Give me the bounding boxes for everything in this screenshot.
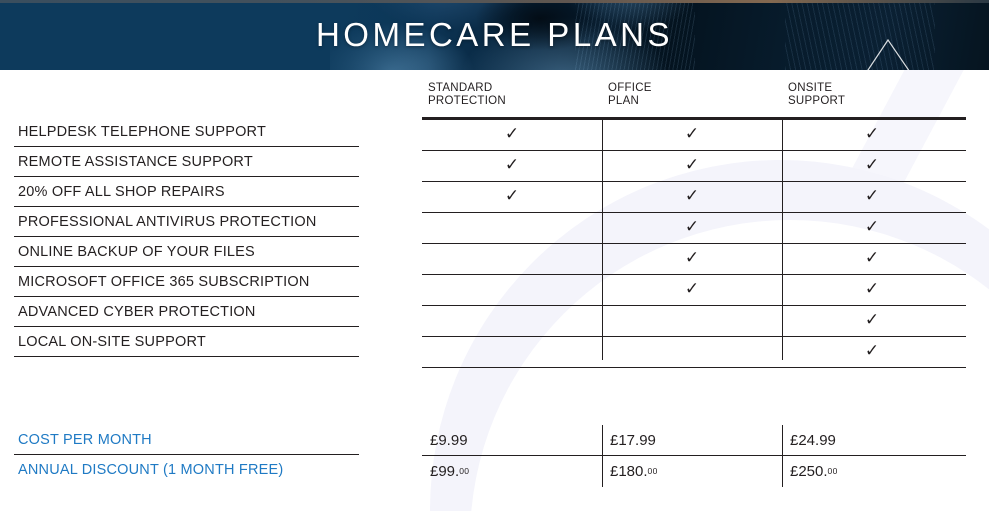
check-cell: ✓ [782,151,962,181]
feature-label-column: HELPDESK TELEPHONE SUPPORT REMOTE ASSIST… [14,70,359,357]
check-row: ✓ ✓ ✓ [422,182,966,213]
price-value-grid: £9.99 £17.99 £24.99 £99.00 £180.00 £250.… [422,425,966,486]
check-row: ✓ ✓ [422,213,966,244]
check-row: ✓ ✓ ✓ [422,151,966,182]
plan-header-office-plan: OFFICE PLAN [608,82,652,107]
check-cell: ✓ [422,151,602,181]
price-cell: £99.00 [422,456,602,486]
price-sup: 00 [828,466,838,476]
feature-label: MICROSOFT OFFICE 365 SUBSCRIPTION [18,274,310,290]
price-cell: £180.00 [602,456,782,486]
price-main: £9.99 [430,432,468,449]
pricing-label: COST PER MONTH [18,432,152,448]
price-cell: £24.99 [782,425,962,455]
price-main: £250. [790,463,828,480]
check-icon: ✓ [685,281,699,298]
feature-row: HELPDESK TELEPHONE SUPPORT [14,117,359,147]
feature-row: 20% OFF ALL SHOP REPAIRS [14,177,359,207]
plan-header-line2: PLAN [608,95,652,108]
pricing-label-spacer [14,365,359,425]
check-icon: ✓ [865,343,879,360]
check-row: ✓ [422,306,966,337]
price-cell: £9.99 [422,425,602,455]
check-icon: ✓ [865,126,879,143]
check-cell-empty [422,213,602,243]
check-icon: ✓ [865,312,879,329]
check-cell: ✓ [782,275,962,305]
plan-header-standard-protection: STANDARD PROTECTION [428,82,506,107]
plan-header-line2: PROTECTION [428,95,506,108]
plan-header-line1: ONSITE [788,82,845,95]
check-cell-empty [422,306,602,336]
plan-header-line1: STANDARD [428,82,506,95]
feature-label: PROFESSIONAL ANTIVIRUS PROTECTION [18,214,317,230]
plans-comparison: HELPDESK TELEPHONE SUPPORT REMOTE ASSIST… [0,70,989,511]
price-sup: 00 [459,466,469,476]
price-row-annual: £99.00 £180.00 £250.00 [422,456,966,486]
check-cell: ✓ [602,213,782,243]
check-icon: ✓ [505,126,519,143]
check-cell: ✓ [422,182,602,212]
check-cell: ✓ [782,213,962,243]
plan-header-row: STANDARD PROTECTION OFFICE PLAN ONSITE S… [422,70,966,117]
check-icon: ✓ [865,219,879,236]
check-cell: ✓ [602,151,782,181]
check-icon: ✓ [685,126,699,143]
check-cell: ✓ [782,337,962,367]
price-main: £99. [430,463,459,480]
check-icon: ✓ [505,188,519,205]
check-icon: ✓ [865,188,879,205]
feature-row: PROFESSIONAL ANTIVIRUS PROTECTION [14,207,359,237]
price-cell: £17.99 [602,425,782,455]
check-cell: ✓ [602,275,782,305]
check-cell: ✓ [422,120,602,150]
check-cell: ✓ [782,244,962,274]
feature-row: REMOTE ASSISTANCE SUPPORT [14,147,359,177]
price-main: £180. [610,463,648,480]
feature-check-grid: ✓ ✓ ✓ ✓ ✓ ✓ ✓ ✓ ✓ ✓ ✓ ✓ ✓ [422,117,966,368]
price-row-monthly: £9.99 £17.99 £24.99 [422,425,966,456]
check-icon: ✓ [865,157,879,174]
check-cell: ✓ [602,244,782,274]
feature-label: 20% OFF ALL SHOP REPAIRS [18,184,225,200]
check-icon: ✓ [685,250,699,267]
check-row: ✓ ✓ [422,275,966,306]
pricing-label-row: COST PER MONTH [14,425,359,455]
check-row: ✓ ✓ [422,244,966,275]
plan-matrix: STANDARD PROTECTION OFFICE PLAN ONSITE S… [422,70,966,368]
check-icon: ✓ [865,281,879,298]
price-main: £24.99 [790,432,836,449]
pricing-label: ANNUAL DISCOUNT (1 MONTH FREE) [18,462,283,478]
plan-header-line1: OFFICE [608,82,652,95]
feature-label: HELPDESK TELEPHONE SUPPORT [18,124,266,140]
page-banner: HOMECARE PLANS [0,0,989,70]
price-sup: 00 [648,466,658,476]
feature-column-spacer [14,70,359,117]
check-row: ✓ ✓ ✓ [422,117,966,151]
check-icon: ✓ [685,188,699,205]
feature-label: REMOTE ASSISTANCE SUPPORT [18,154,253,170]
plan-header-line2: SUPPORT [788,95,845,108]
feature-label: LOCAL ON-SITE SUPPORT [18,334,206,350]
price-cell: £250.00 [782,456,962,486]
check-cell-empty [422,275,602,305]
feature-row: MICROSOFT OFFICE 365 SUBSCRIPTION [14,267,359,297]
check-cell: ✓ [782,306,962,336]
check-icon: ✓ [505,157,519,174]
feature-label: ADVANCED CYBER PROTECTION [18,304,256,320]
check-cell: ✓ [782,182,962,212]
check-icon: ✓ [865,250,879,267]
check-icon: ✓ [685,157,699,174]
check-cell-empty [602,337,782,367]
feature-row: ONLINE BACKUP OF YOUR FILES [14,237,359,267]
check-cell: ✓ [602,182,782,212]
check-cell: ✓ [782,120,962,150]
check-icon: ✓ [685,219,699,236]
price-main: £17.99 [610,432,656,449]
feature-row: LOCAL ON-SITE SUPPORT [14,327,359,357]
feature-label: ONLINE BACKUP OF YOUR FILES [18,244,255,260]
check-cell-empty [422,244,602,274]
pricing-label-column: COST PER MONTH ANNUAL DISCOUNT (1 MONTH … [14,365,359,485]
plan-header-onsite-support: ONSITE SUPPORT [788,82,845,107]
check-row: ✓ [422,337,966,368]
feature-row: ADVANCED CYBER PROTECTION [14,297,359,327]
check-cell-empty [602,306,782,336]
page-title: HOMECARE PLANS [0,0,989,70]
check-cell-empty [422,337,602,367]
pricing-label-row: ANNUAL DISCOUNT (1 MONTH FREE) [14,455,359,485]
check-cell: ✓ [602,120,782,150]
